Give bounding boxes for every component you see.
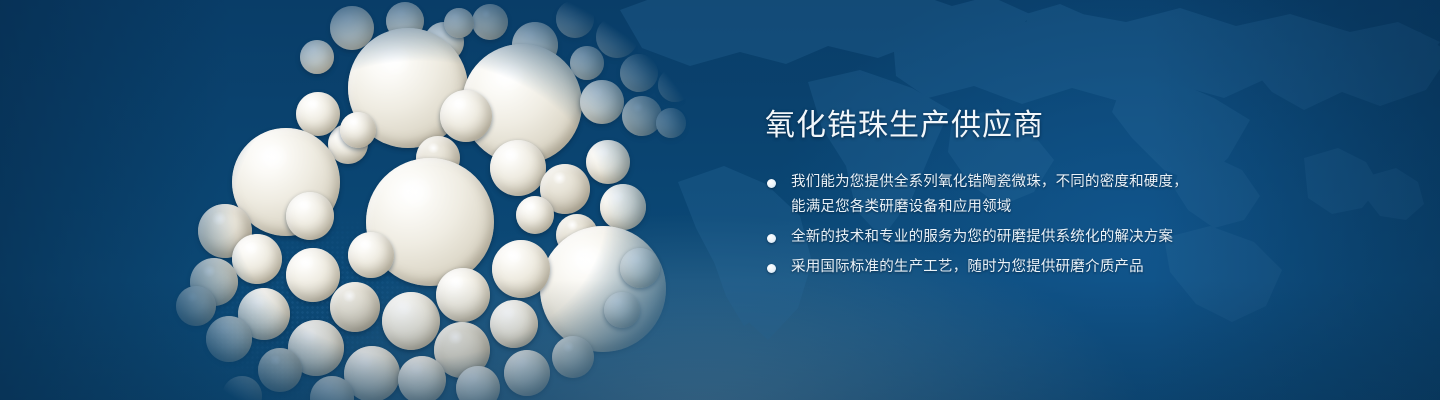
hero-banner: 氧化锆珠生产供应商 我们能为您提供全系列氧化锆陶瓷微珠，不同的密度和硬度， 能满… [0,0,1440,400]
banner-vignette [0,0,1440,400]
